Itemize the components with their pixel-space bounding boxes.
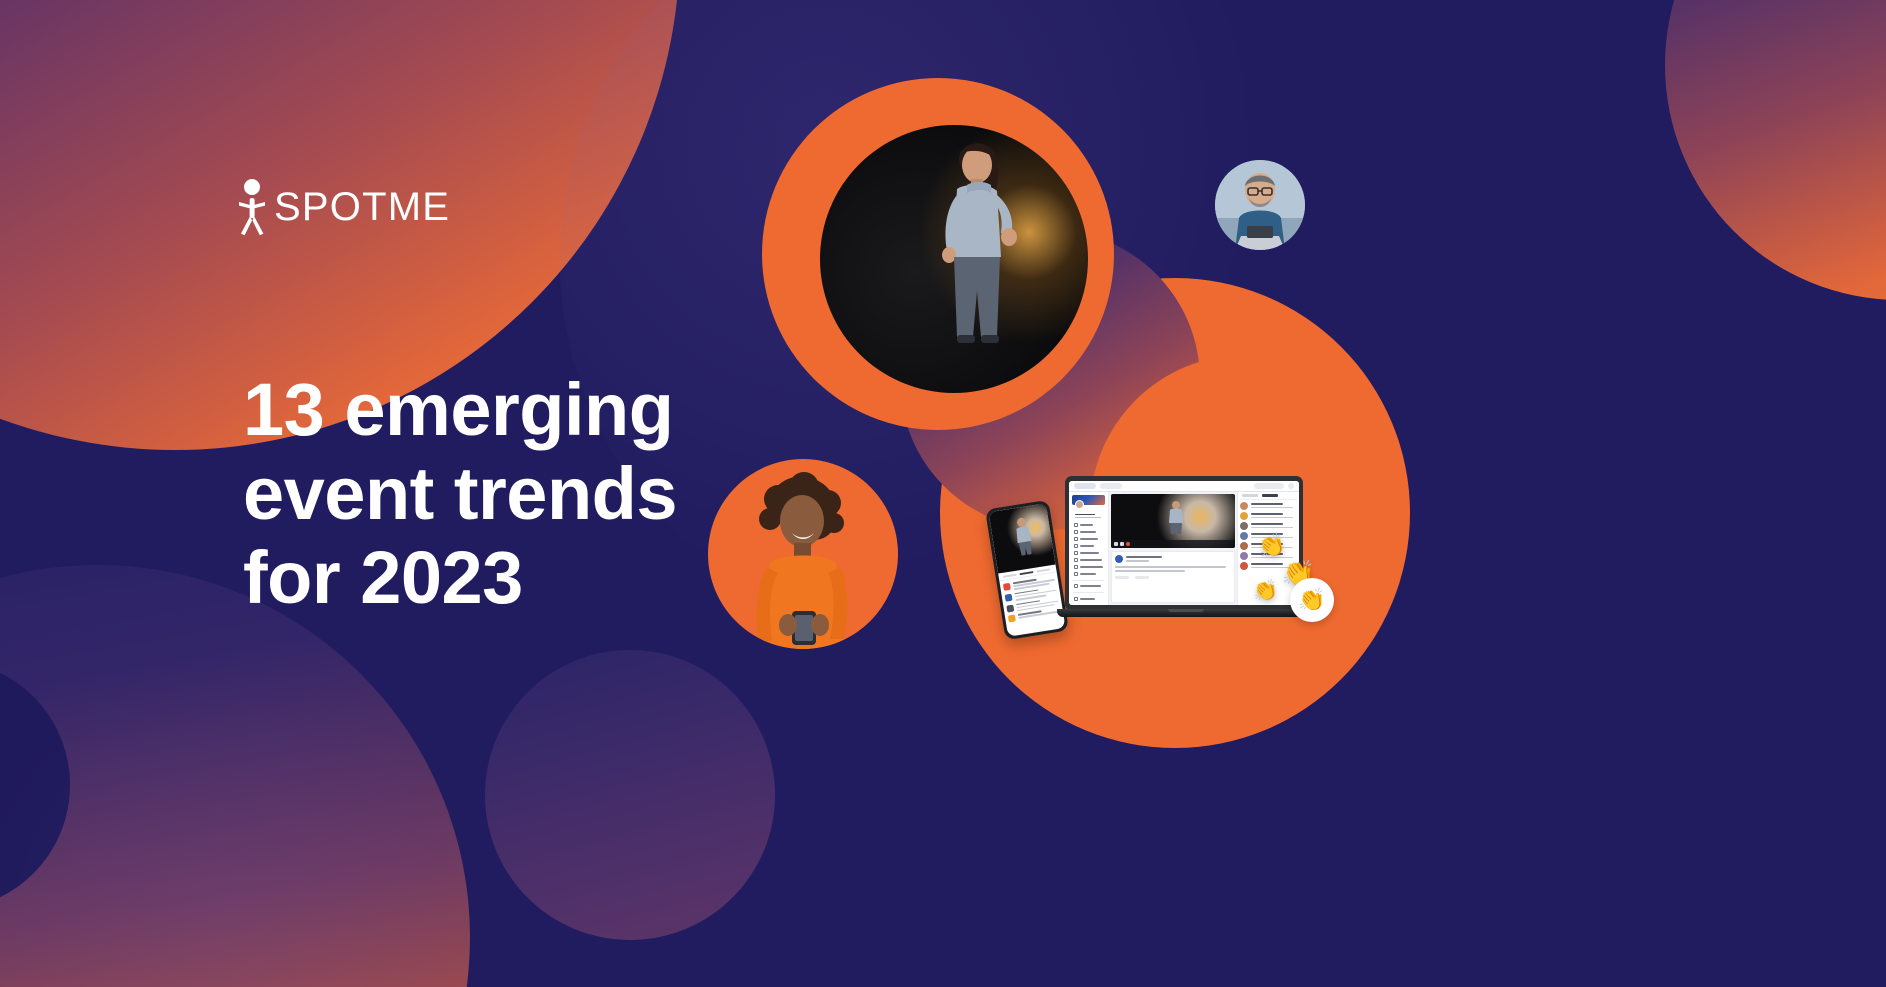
avatar	[1240, 552, 1248, 560]
like-button[interactable]	[1115, 576, 1129, 579]
app-tab-home[interactable]	[1074, 483, 1096, 489]
attendee-avatar-photo	[1215, 160, 1305, 250]
post-header	[1115, 555, 1231, 563]
decor-sheen-left	[0, 640, 500, 987]
sidebar-profile-subtitle	[1075, 517, 1101, 518]
calendar-icon	[1074, 530, 1078, 534]
sidebar-item-volunteer[interactable]	[1072, 564, 1105, 570]
app-search-input[interactable]	[1254, 483, 1284, 489]
post-author	[1126, 556, 1162, 558]
headline-line-1: 13 emerging	[243, 368, 883, 452]
phone-screen	[989, 503, 1066, 637]
spotme-logo[interactable]: SPOTME	[236, 178, 450, 236]
decor-circle-bottom-middle	[485, 650, 775, 940]
sidebar-item-people[interactable]	[1072, 543, 1105, 549]
sidebar-item-messages[interactable]	[1072, 550, 1105, 556]
avatar	[1240, 502, 1248, 510]
avatar	[1240, 562, 1248, 570]
avatar	[1003, 583, 1011, 591]
tab-chat[interactable]	[1242, 494, 1258, 497]
avatar	[1005, 593, 1013, 601]
list-item[interactable]	[1240, 502, 1297, 510]
post-timestamp	[1126, 560, 1149, 562]
list-item[interactable]	[1240, 512, 1297, 520]
applause-reaction-icon: 👏	[1252, 580, 1278, 602]
home-icon	[1074, 523, 1078, 527]
sidebar-item-agenda[interactable]	[1072, 529, 1105, 535]
sidebar-item-speakers[interactable]	[1072, 536, 1105, 542]
avatar	[1240, 522, 1248, 530]
divider	[1073, 580, 1104, 581]
app-sidebar[interactable]	[1069, 492, 1109, 605]
avatar	[1006, 604, 1014, 612]
trophy-icon	[1074, 572, 1078, 576]
app-tab-agenda[interactable]	[1100, 483, 1122, 489]
session-stage	[1109, 492, 1237, 605]
post-text	[1115, 566, 1231, 572]
avatar	[1240, 542, 1248, 550]
sidebar-item-rewards[interactable]	[1072, 571, 1105, 577]
sidebar-item-video-library[interactable]	[1072, 583, 1105, 589]
session-video-player[interactable]	[1111, 494, 1235, 548]
avatar	[1075, 500, 1084, 509]
sidebar-profile-card[interactable]	[1072, 495, 1105, 505]
sidebar-item-matchmaking[interactable]	[1072, 557, 1105, 563]
decor-circle-top-right	[1665, 0, 1886, 300]
comment-button[interactable]	[1135, 576, 1149, 579]
feed-post[interactable]	[1111, 551, 1235, 603]
sidebar-profile-name	[1075, 514, 1095, 515]
app-top-bar[interactable]	[1069, 481, 1299, 492]
attendee-photo-woman	[708, 459, 898, 649]
phone-video-hero	[989, 503, 1056, 573]
divider	[1073, 592, 1104, 593]
phone-tab-chat[interactable]	[1003, 574, 1017, 578]
app-profile-avatar[interactable]	[1288, 483, 1294, 489]
clipboard-icon	[1074, 565, 1078, 569]
phone-tab-feed[interactable]	[1019, 571, 1033, 575]
avatar	[1240, 512, 1248, 520]
person-stick-figure-icon	[236, 178, 270, 236]
record-icon[interactable]	[1126, 542, 1130, 546]
avatar	[1115, 555, 1123, 563]
post-actions[interactable]	[1115, 576, 1231, 579]
video-icon	[1074, 584, 1078, 588]
mute-icon[interactable]	[1120, 542, 1124, 546]
message-icon	[1074, 551, 1078, 555]
play-icon[interactable]	[1114, 542, 1118, 546]
list-item[interactable]	[1240, 522, 1297, 530]
handshake-icon	[1074, 558, 1078, 562]
speaker-photo	[820, 125, 1088, 393]
laptop-notch	[1168, 609, 1204, 612]
logo-wordmark: SPOTME	[274, 187, 450, 227]
phone-tab-more[interactable]	[1036, 568, 1050, 572]
marketing-banner: SPOTME 13 emerging event trends for 2023	[0, 0, 1886, 987]
applause-reaction-badge[interactable]: 👏	[1290, 578, 1334, 622]
sidebar-item-logout[interactable]	[1072, 596, 1105, 602]
microphone-icon	[1074, 537, 1078, 541]
avatar	[1008, 615, 1016, 623]
phone-feed-list[interactable]	[999, 572, 1065, 636]
avatar	[1240, 532, 1248, 540]
logout-icon	[1074, 597, 1078, 601]
tab-viewers[interactable]	[1262, 494, 1278, 497]
video-controls[interactable]	[1111, 540, 1235, 548]
sidebar-item-home[interactable]	[1072, 522, 1105, 528]
people-icon	[1074, 544, 1078, 548]
